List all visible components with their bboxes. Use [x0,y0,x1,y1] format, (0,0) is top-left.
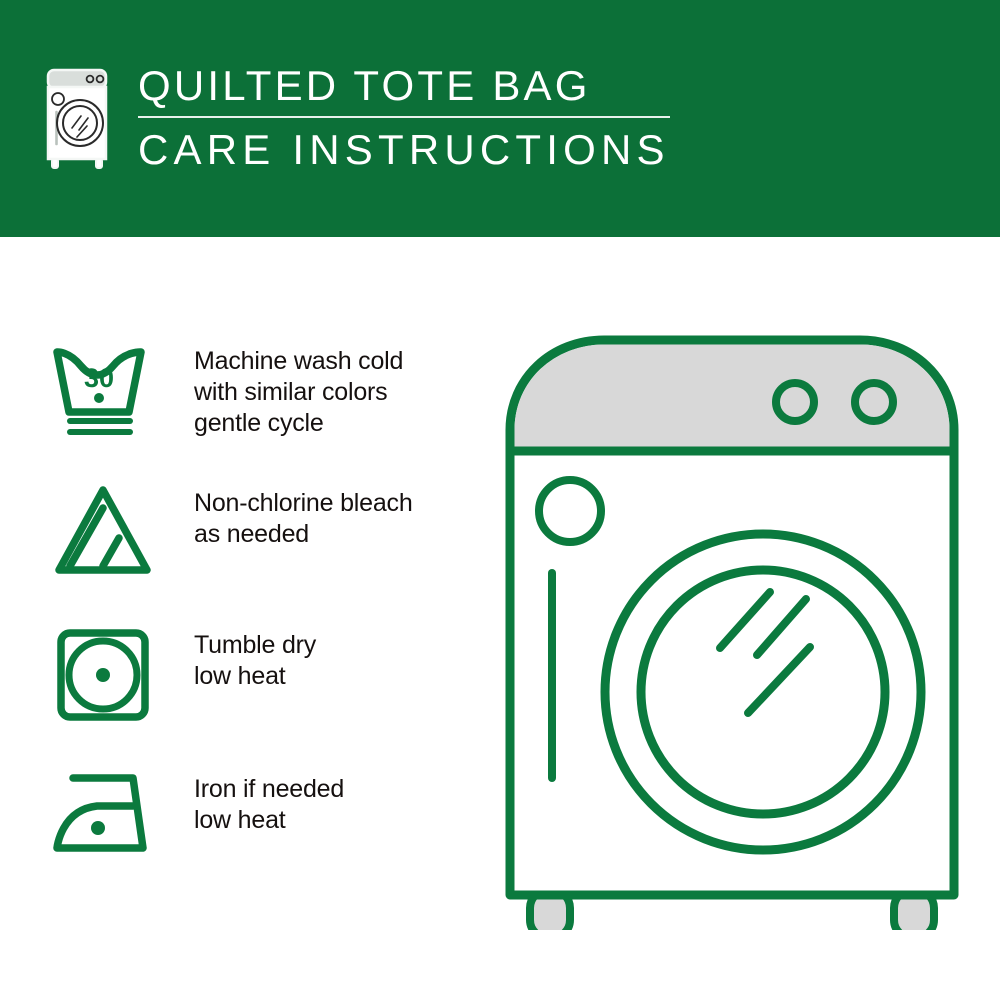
care-instructions-infographic: QUILTED TOTE BAG CARE INSTRUCTIONS 30 Ma… [0,0,1000,1000]
care-label-line: gentle cycle [194,408,403,439]
care-label-line: Tumble dry [194,630,316,661]
title-divider [138,116,670,118]
care-row-tumble-dry: Tumble dry low heat [48,624,468,726]
care-row-bleach: Non-chlorine bleach as needed [48,482,468,582]
care-label-tumble-dry: Tumble dry low heat [194,624,316,692]
care-label-iron: Iron if needed low heat [194,768,344,836]
care-label-bleach: Non-chlorine bleach as needed [194,482,413,550]
care-instruction-list: 30 Machine wash cold with similar colors… [48,340,468,868]
care-label-line: Machine wash cold [194,346,403,377]
care-label-line: Non-chlorine bleach [194,488,413,519]
care-label-line: Iron if needed [194,774,344,805]
front-load-washing-machine-illustration [498,330,968,930]
title-block: QUILTED TOTE BAG CARE INSTRUCTIONS [138,62,670,174]
header-content: QUILTED TOTE BAG CARE INSTRUCTIONS [44,62,670,174]
non-chlorine-bleach-triangle-icon [48,482,158,578]
care-row-machine-wash: 30 Machine wash cold with similar colors… [48,340,468,440]
wash-temperature-value: 30 [84,363,114,393]
care-label-line: as needed [194,519,413,550]
care-label-machine-wash: Machine wash cold with similar colors ge… [194,340,403,439]
care-row-iron: Iron if needed low heat [48,768,468,868]
care-label-line: with similar colors [194,377,403,408]
header-banner: QUILTED TOTE BAG CARE INSTRUCTIONS [0,0,1000,237]
page-subtitle: CARE INSTRUCTIONS [138,126,670,174]
washer-control-panel [515,345,950,452]
machine-wash-30-icon: 30 [48,340,158,440]
iron-low-heat-icon [48,768,158,860]
page-title: QUILTED TOTE BAG [138,62,670,110]
tumble-dry-low-icon [48,624,158,726]
care-label-line: low heat [194,805,344,836]
washing-machine-icon [44,66,112,174]
care-label-line: low heat [194,661,316,692]
